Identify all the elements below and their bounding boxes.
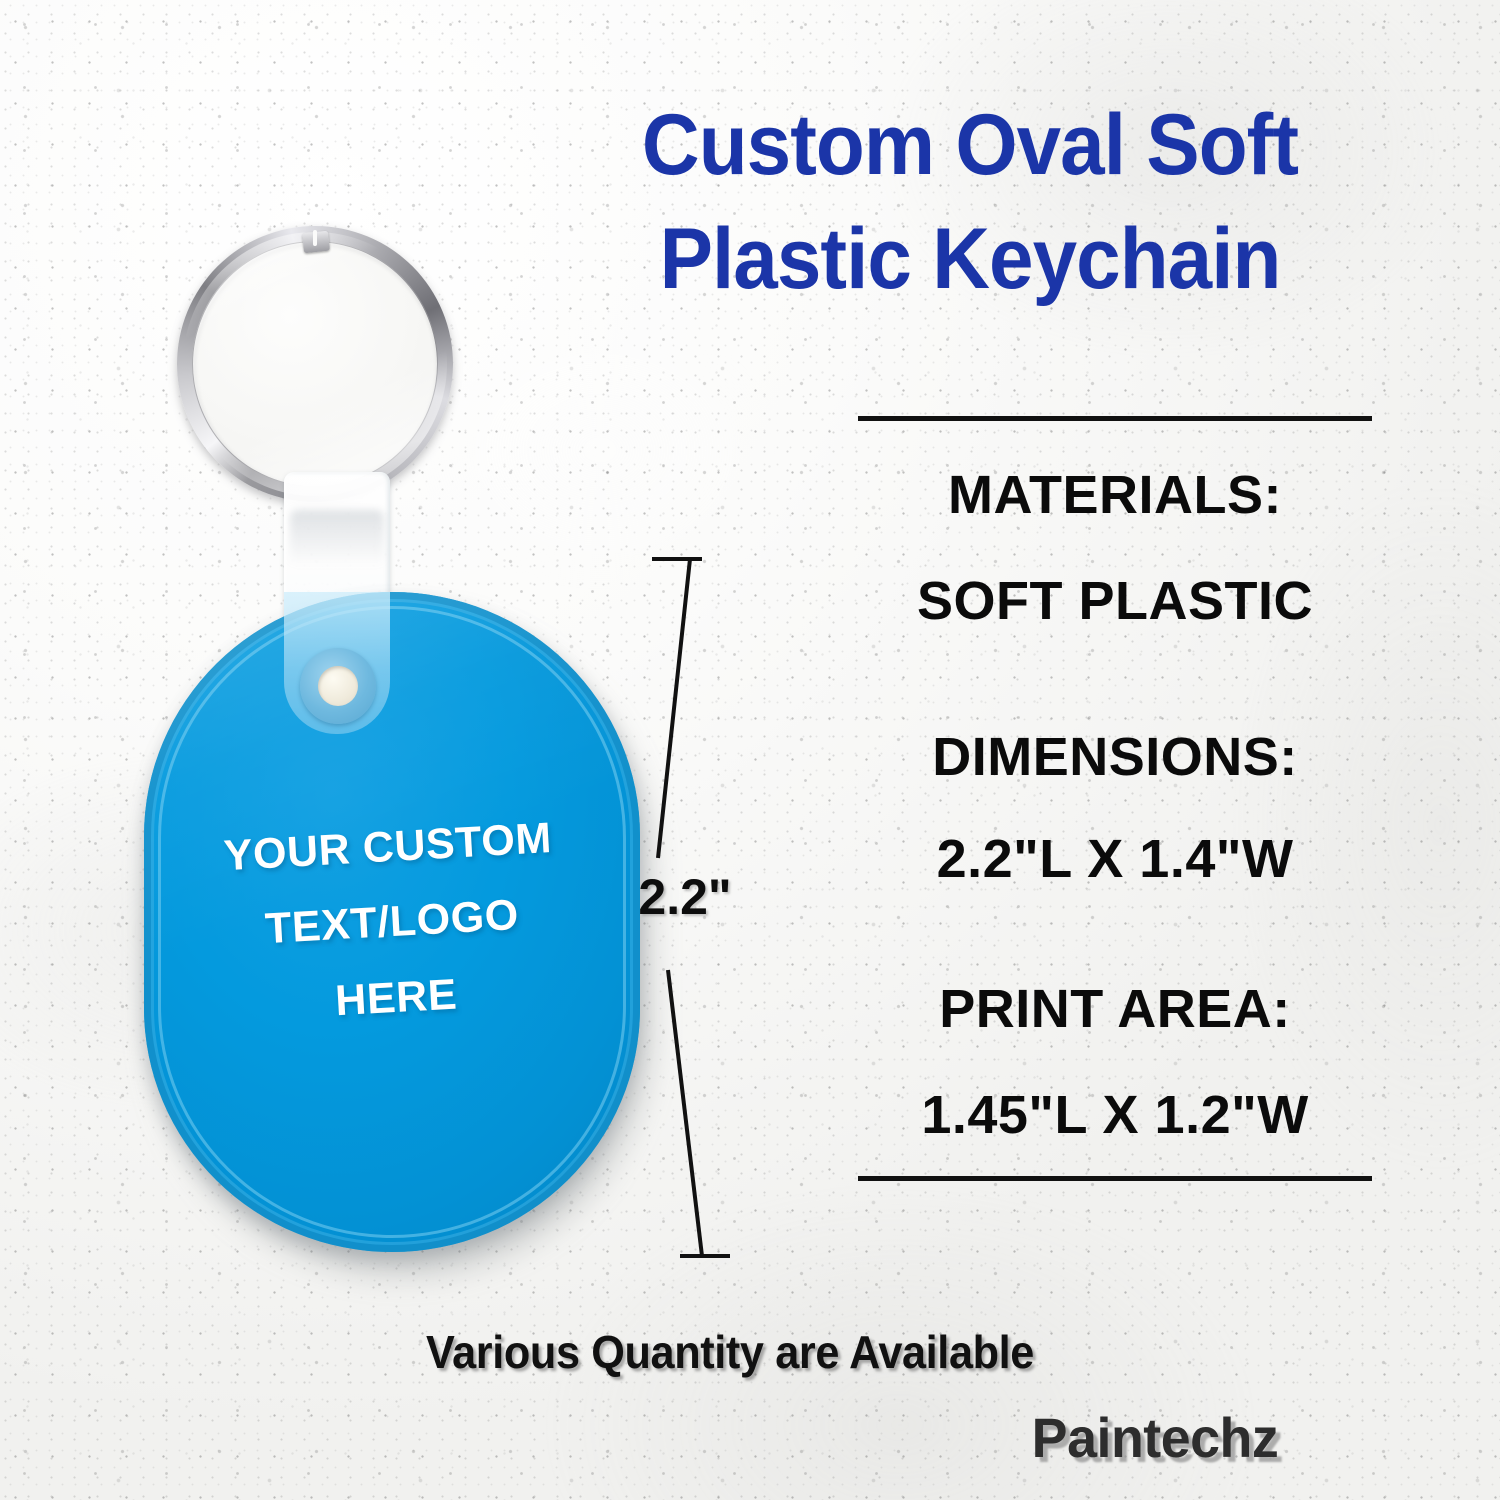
brand-logo: Paintechz [910,1405,1400,1470]
key-ring-inner-edge [192,241,438,487]
spec-divider-top [858,416,1372,421]
spec-label-dimensions: DIMENSIONS: [848,726,1382,788]
quantity-note: Various Quantity are Available [232,1325,1228,1379]
spec-value-materials: SOFT PLASTIC [848,570,1382,632]
spec-value-dimensions: 2.2"L X 1.4"W [848,828,1382,890]
dimension-label: 2.2" [600,868,770,926]
key-ring-split-gap [313,230,317,246]
page-title-line-1: Custom Oval Soft [570,88,1370,202]
spec-label-print-area: PRINT AREA: [848,978,1382,1040]
grommet-hole-center [318,666,358,706]
page-title-line-2: Plastic Keychain [570,202,1370,316]
tag-custom-text: YOUR CUSTOM TEXT/LOGO HERE [138,796,646,1049]
spec-value-print-area: 1.45"L X 1.2"W [848,1084,1382,1146]
page-title: Custom Oval Soft Plastic Keychain [570,88,1370,317]
spec-divider-bottom [858,1176,1372,1181]
key-ring-icon [177,226,453,502]
spec-label-materials: MATERIALS: [848,464,1382,526]
keychain-illustration: YOUR CUSTOM TEXT/LOGO HERE [120,210,640,1290]
product-listing-image: Custom Oval Soft Plastic Keychain YOUR C… [0,0,1500,1500]
